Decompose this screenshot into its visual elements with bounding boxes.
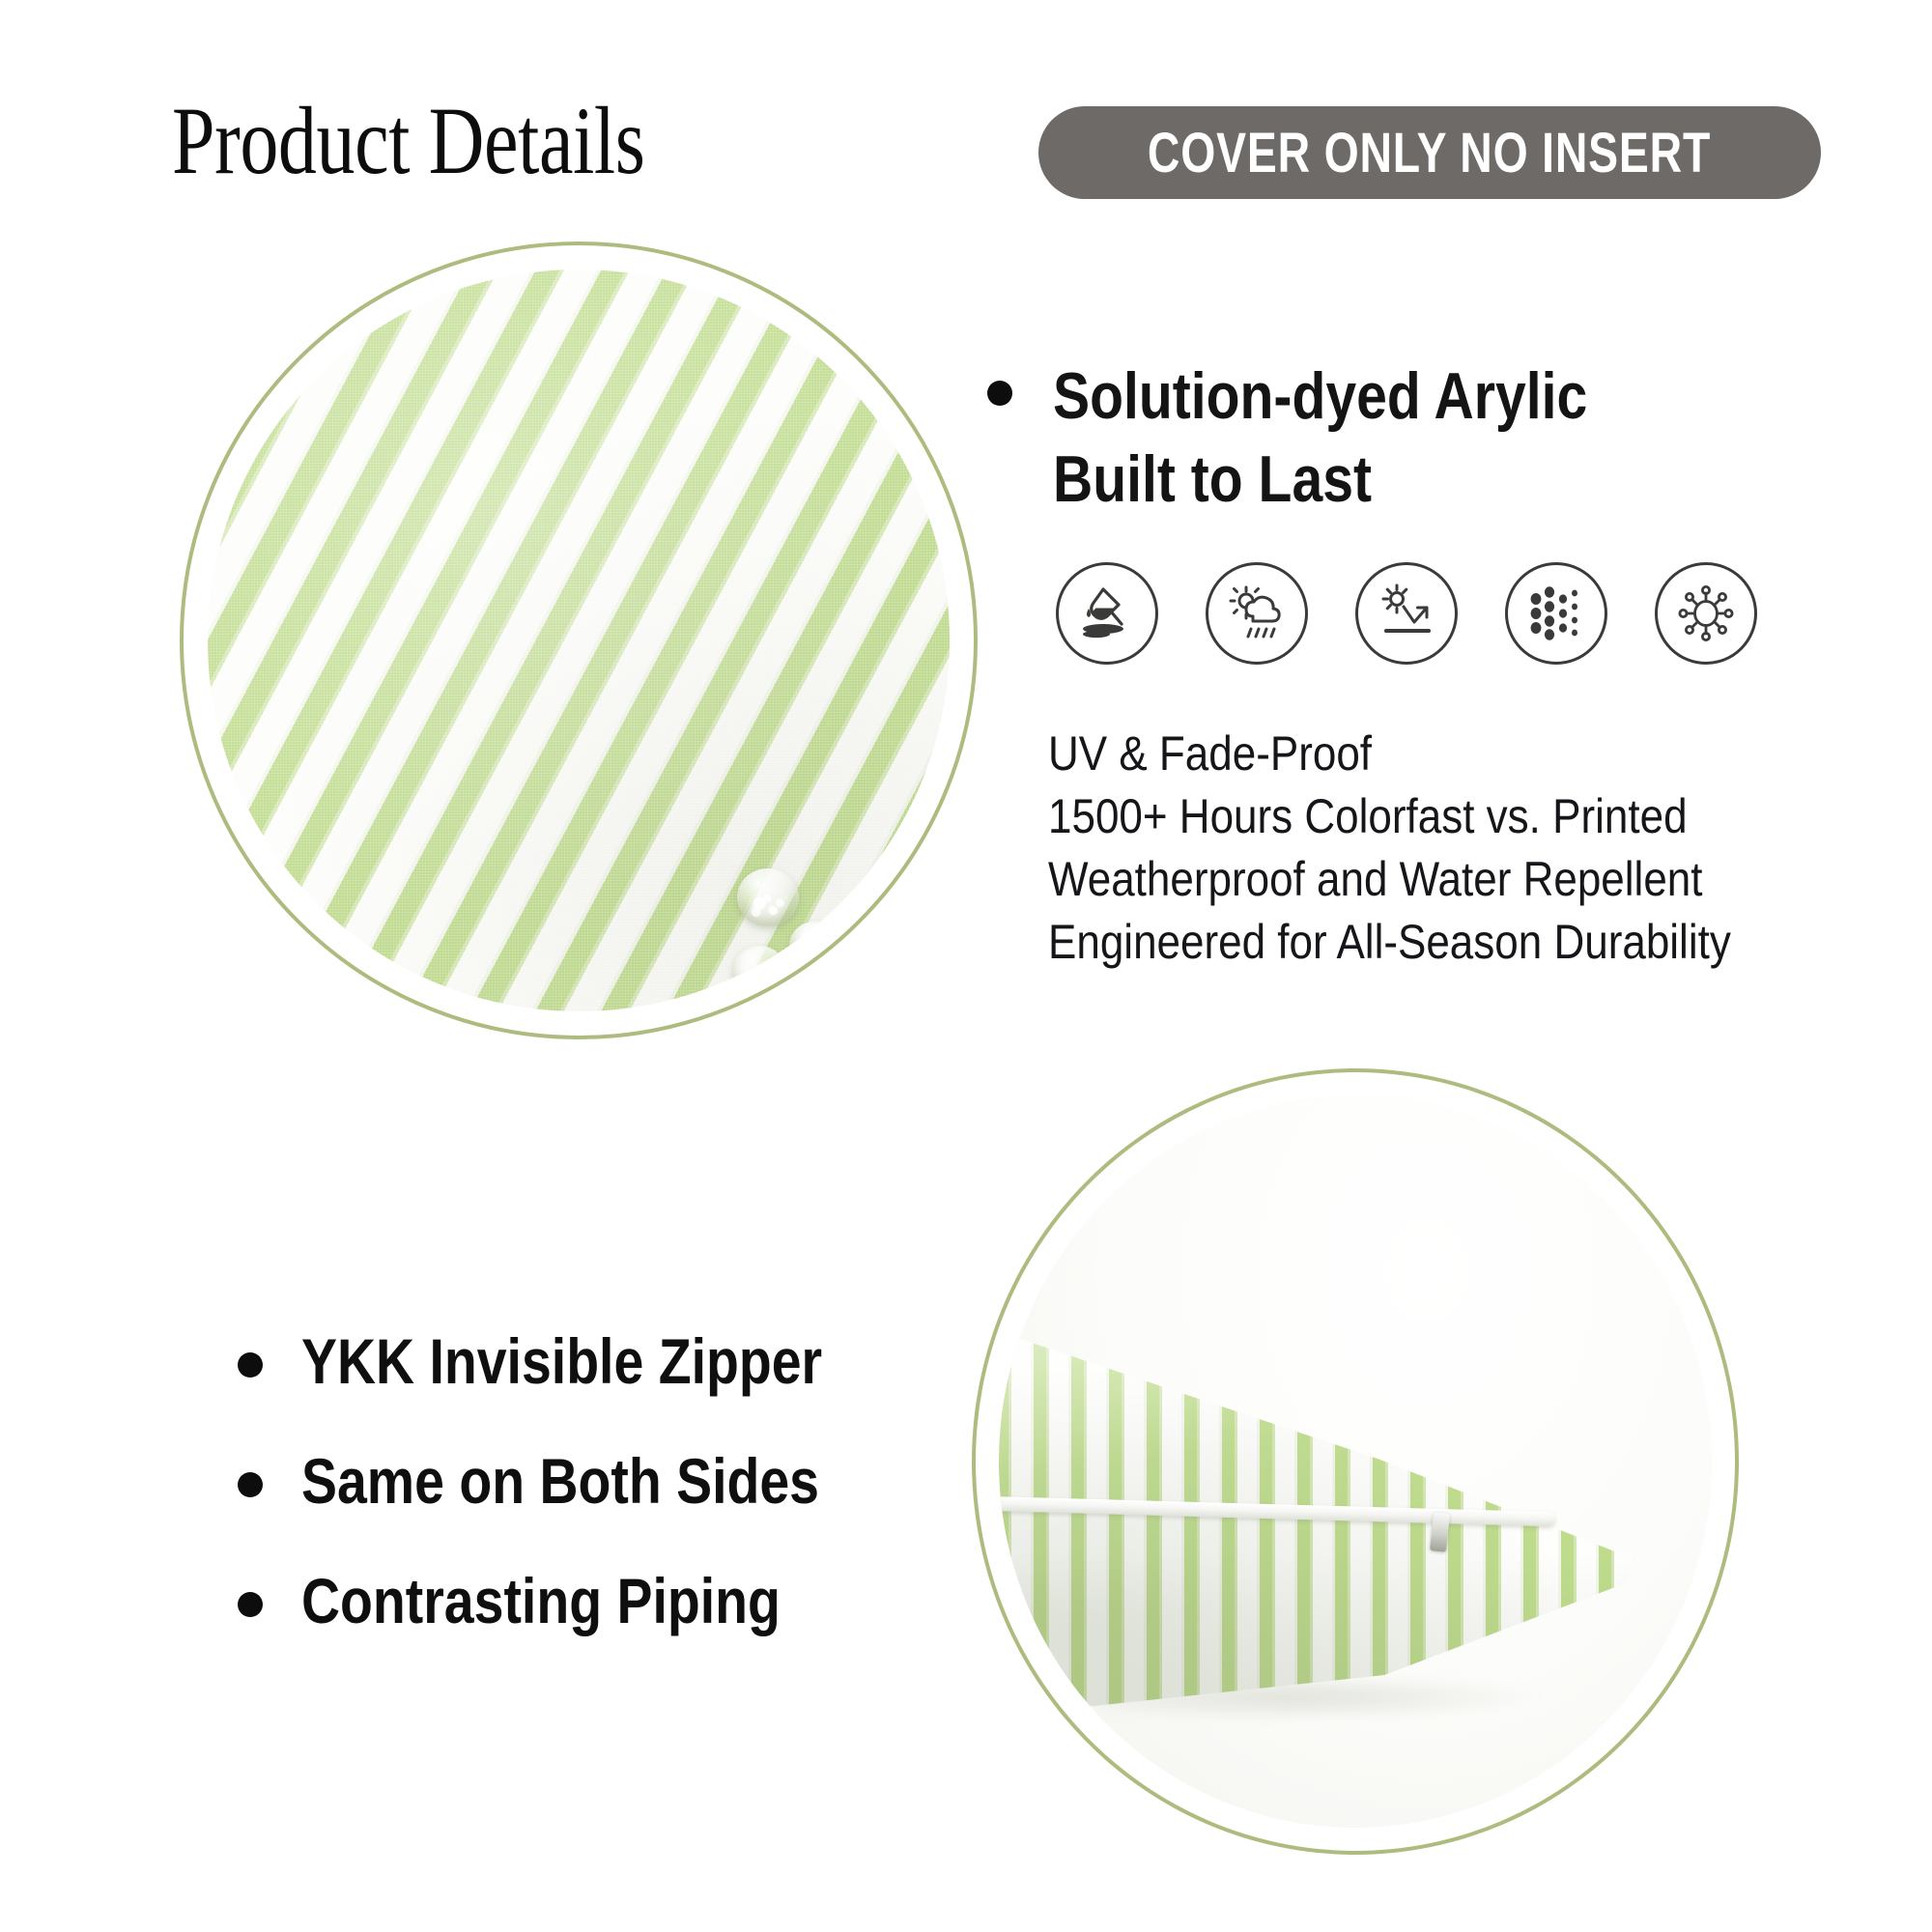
water-droplet-icon (732, 946, 786, 998)
feature-line: Weatherproof and Water Repellent (1048, 848, 1762, 911)
headline-bullet-row: Solution-dyed Arylic Built to Last (987, 355, 1690, 521)
headline-text: Solution-dyed Arylic Built to Last (1053, 355, 1587, 521)
fabric-swatch-photo (208, 270, 950, 1011)
anti-microbial-icon (1655, 562, 1757, 665)
spill-resistant-icon (1056, 562, 1158, 665)
bullet-dot-icon (238, 1352, 263, 1378)
feature-line: Engineered for All-Season Durability (1048, 911, 1762, 974)
fade-proof-dots-icon (1505, 562, 1607, 665)
construction-feature-list: YKK Invisible Zipper Same on Both Sides … (238, 1329, 922, 1689)
page-title: Product Details (172, 93, 644, 189)
cover-only-badge-label: COVER ONLY NO INSERT (1148, 121, 1711, 185)
feature-icon-row (1056, 562, 1757, 665)
product-details-infographic: Product Details COVER ONLY NO INSERT Sol… (0, 0, 1932, 1932)
bullet-dot-icon (238, 1592, 263, 1617)
bullet-dot-icon (987, 381, 1012, 406)
list-item-label: Contrasting Piping (301, 1569, 781, 1633)
pillow-photo (999, 1095, 1712, 1828)
list-item: YKK Invisible Zipper (238, 1329, 922, 1393)
bullet-dot-icon (238, 1472, 263, 1497)
cover-only-badge: COVER ONLY NO INSERT (1038, 106, 1821, 199)
feature-line: 1500+ Hours Colorfast vs. Printed (1048, 785, 1762, 848)
feature-list: UV & Fade-Proof 1500+ Hours Colorfast vs… (1048, 723, 1860, 974)
water-droplet-icon (737, 868, 799, 926)
list-item: Same on Both Sides (238, 1449, 922, 1513)
list-item-label: YKK Invisible Zipper (301, 1329, 822, 1393)
uv-reflect-icon (1355, 562, 1458, 665)
weatherproof-sun-cloud-rain-icon (1206, 562, 1308, 665)
water-droplet-icon (789, 922, 839, 970)
feature-line: UV & Fade-Proof (1048, 723, 1762, 785)
list-item: Contrasting Piping (238, 1569, 922, 1633)
list-item-label: Same on Both Sides (301, 1449, 819, 1513)
